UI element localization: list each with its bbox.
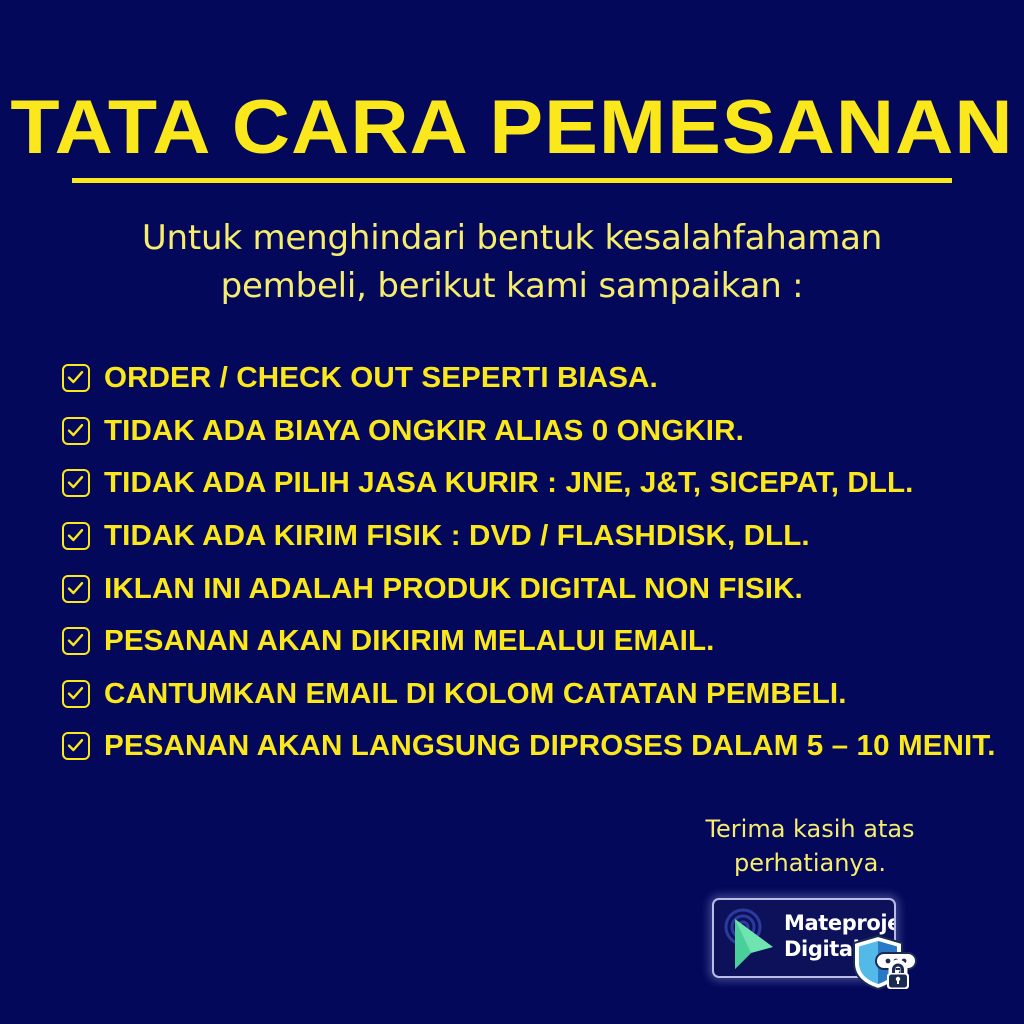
checklist-item: PESANAN AKAN LANGSUNG DIPROSES DALAM 5 –… (62, 720, 982, 773)
checkbox-checked-icon (62, 680, 90, 708)
checkbox-checked-icon (62, 522, 90, 550)
checklist-item-label: TIDAK ADA BIAYA ONGKIR ALIAS 0 ONGKIR. (104, 415, 744, 447)
checkbox-checked-icon (62, 417, 90, 445)
thanks-note: Terima kasih atas perhatianya. (640, 812, 980, 880)
checklist-item-label: TIDAK ADA PILIH JASA KURIR : JNE, J&T, S… (104, 467, 913, 499)
title-block: TATA CARA PEMESANAN (0, 86, 1024, 170)
checklist-item-label: PESANAN AKAN DIKIRIM MELALUI EMAIL. (104, 625, 715, 657)
subtitle-line-2: pembeli, berikut kami sampaikan : (0, 262, 1024, 310)
checklist-item-label: TIDAK ADA KIRIM FISIK : DVD / FLASHDISK,… (104, 520, 810, 552)
page-title: TATA CARA PEMESANAN (0, 86, 1024, 170)
checklist-item: ORDER / CHECK OUT SEPERTI BIASA. (62, 352, 982, 405)
checkbox-checked-icon (62, 732, 90, 760)
thanks-line-2: perhatianya. (640, 846, 980, 880)
checklist-item-label: CANTUMKAN EMAIL DI KOLOM CATATAN PEMBELI… (104, 678, 847, 710)
checklist-item: TIDAK ADA PILIH JASA KURIR : JNE, J&T, S… (62, 457, 982, 510)
checklist-item: TIDAK ADA KIRIM FISIK : DVD / FLASHDISK,… (62, 510, 982, 563)
checkbox-checked-icon (62, 364, 90, 392)
checklist-item-label: ORDER / CHECK OUT SEPERTI BIASA. (104, 362, 658, 394)
promo-poster: TATA CARA PEMESANAN Untuk menghindari be… (0, 0, 1024, 1024)
subtitle-line-1: Untuk menghindari bentuk kesalahfahaman (0, 214, 1024, 262)
checklist-item-label: PESANAN AKAN LANGSUNG DIPROSES DALAM 5 –… (104, 730, 996, 762)
checklist-item: TIDAK ADA BIAYA ONGKIR ALIAS 0 ONGKIR. (62, 405, 982, 458)
subtitle: Untuk menghindari bentuk kesalahfahaman … (0, 214, 1024, 310)
thanks-line-1: Terima kasih atas (640, 812, 980, 846)
checklist-item: CANTUMKAN EMAIL DI KOLOM CATATAN PEMBELI… (62, 668, 982, 721)
checklist-item: IKLAN INI ADALAH PRODUK DIGITAL NON FISI… (62, 562, 982, 615)
checkbox-checked-icon (62, 627, 90, 655)
checkbox-checked-icon (62, 575, 90, 603)
shield-password-lock-icon (848, 933, 920, 993)
checklist: ORDER / CHECK OUT SEPERTI BIASA. TIDAK A… (62, 352, 982, 773)
checklist-item: PESANAN AKAN DIKIRIM MELALUI EMAIL. (62, 615, 982, 668)
checklist-item-label: IKLAN INI ADALAH PRODUK DIGITAL NON FISI… (104, 573, 803, 605)
brand-logo: Mateproject Digital (706, 893, 922, 993)
signal-rings-cursor-icon (721, 907, 785, 973)
title-underline-divider (72, 178, 952, 183)
checkbox-checked-icon (62, 469, 90, 497)
